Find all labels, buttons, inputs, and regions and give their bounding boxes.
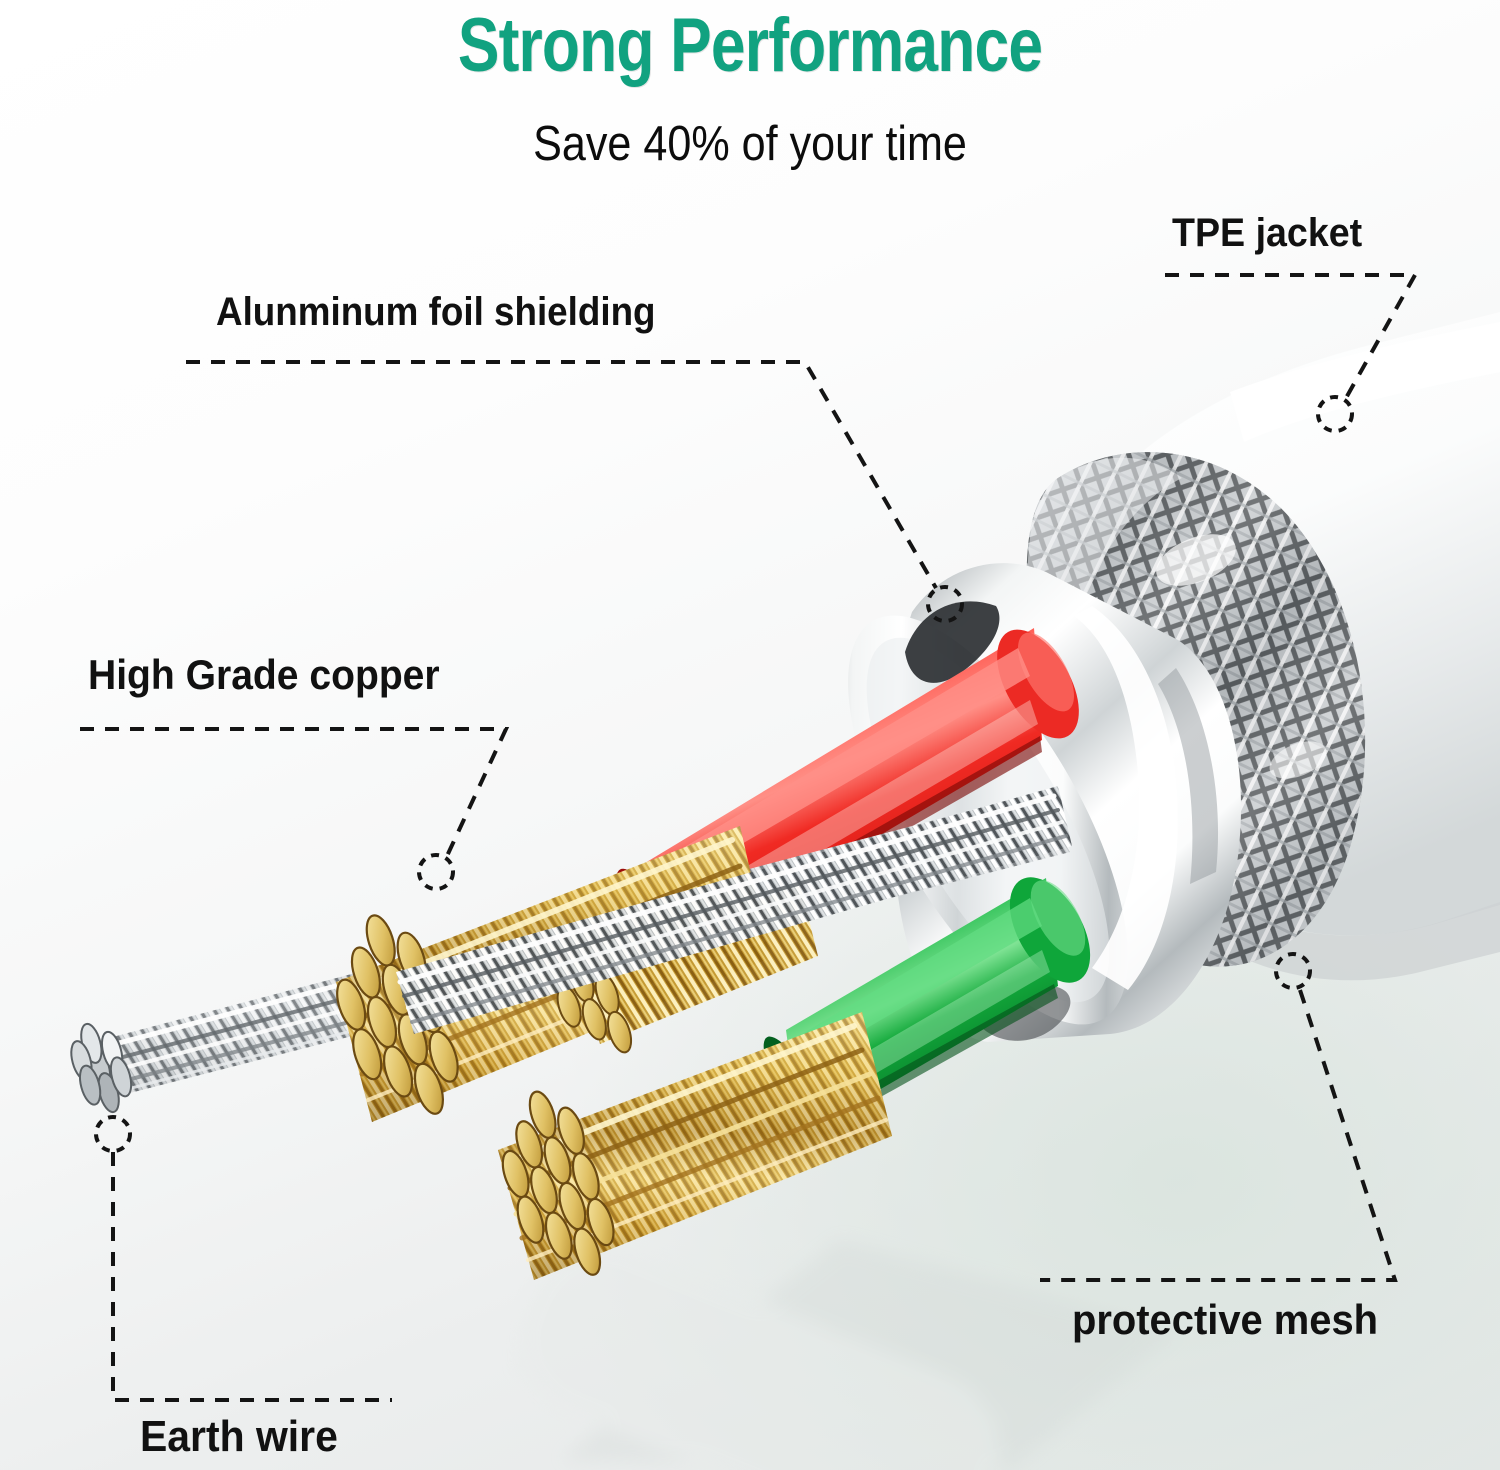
page-title: Strong Performance xyxy=(135,2,1365,89)
page-subtitle: Save 40% of your time xyxy=(90,116,1410,172)
product-infographic: Strong Performance Save 40% of your time… xyxy=(0,0,1500,1470)
callout-label-earth-wire: Earth wire xyxy=(140,1412,338,1462)
callout-label-aluminum-foil-shielding: Alunminum foil shielding xyxy=(216,290,656,335)
callout-label-protective-mesh: protective mesh xyxy=(1072,1296,1378,1344)
callout-label-high-grade-copper: High Grade copper xyxy=(88,651,440,699)
callout-label-tpe-jacket: TPE jacket xyxy=(1172,211,1362,256)
